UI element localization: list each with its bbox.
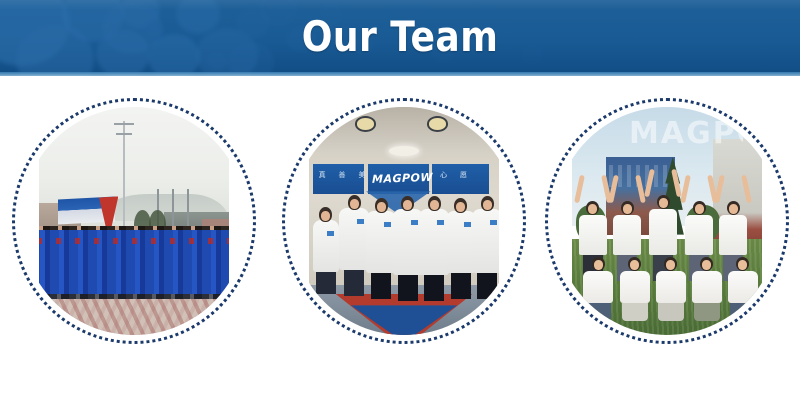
page-header-banner: Our Team — [0, 0, 800, 76]
dotted-ring-border — [545, 98, 789, 344]
team-photo-gallery: 真 善 美 心 愿 MAGPOW — [0, 76, 800, 416]
dotted-ring-border — [282, 98, 526, 344]
page-title: Our Team — [56, 6, 744, 68]
photo-lab-coat-team: 真 善 美 心 愿 MAGPOW — [282, 98, 526, 344]
photo-outdoor-team: MAGPOW — [545, 98, 789, 344]
photo-employees-assembly — [12, 98, 256, 344]
dotted-ring-border — [12, 98, 256, 344]
